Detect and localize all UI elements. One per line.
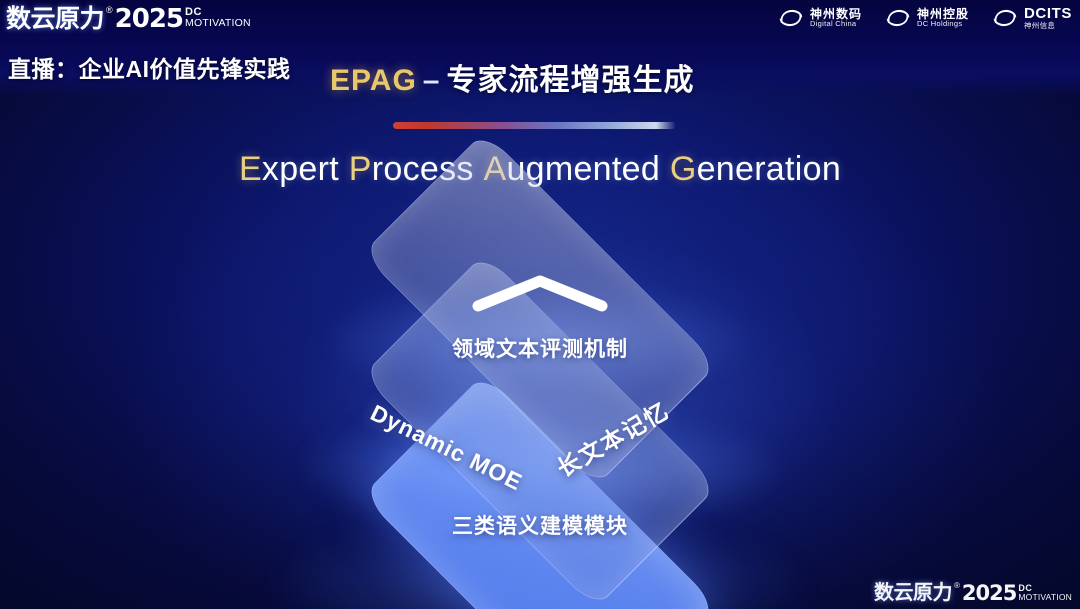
watermark-year: 2025: [962, 581, 1016, 605]
chevron-up-icon: [468, 272, 612, 314]
watermark-dc-motivation: DC MOTIVATION: [1018, 584, 1072, 602]
brand-logo-watermark: 数云原力 ® 2025 DC MOTIVATION: [874, 581, 1072, 605]
watermark-name-cn: 数云原力: [874, 581, 952, 605]
layered-architecture-diagram: 领域文本评测机制 Dynamic MOE 长文本记忆 三类语义建模模块: [0, 0, 1080, 609]
watermark-registered-mark: ®: [954, 581, 960, 591]
watermark-motivation-text: MOTIVATION: [1018, 593, 1072, 602]
slide-canvas: 数云原力 ® 2025 DC MOTIVATION 直播：企业AI价值先锋实践 …: [0, 0, 1080, 609]
